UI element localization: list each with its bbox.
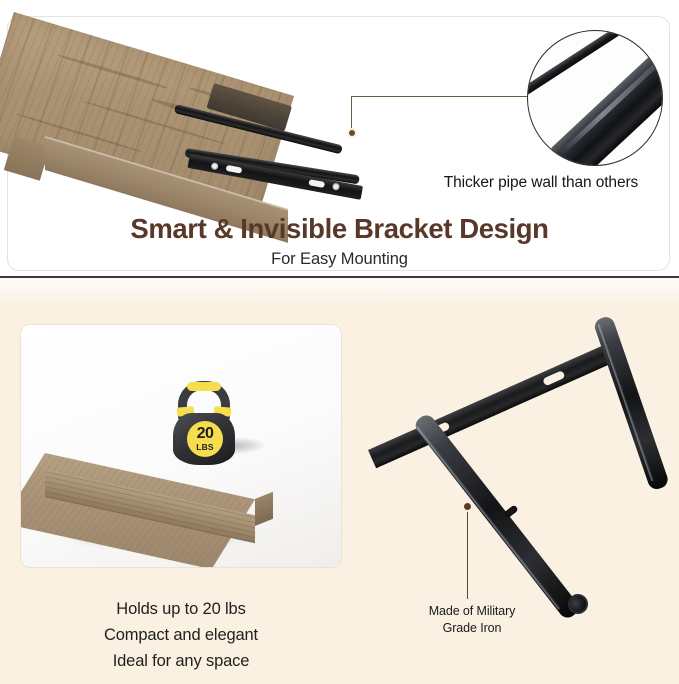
product-feature-graphic: Thicker pipe wall than others Smart & In… [0,0,679,684]
bullet-item: Ideal for any space [0,648,362,674]
subheadline: For Easy Mounting [0,250,679,269]
plate-screw-hole-2 [332,183,340,191]
tube-drain-hole [503,504,518,518]
kettlebell-body: 20 LBS [173,413,235,465]
top-section: Thicker pipe wall than others Smart & In… [0,0,679,277]
plate-screw-hole-1 [211,162,219,170]
kettlebell: 20 LBS [165,381,243,471]
military-caption-line-2: Grade Iron [382,620,562,637]
feature-bullet-list: Holds up to 20 lbs Compact and elegant I… [0,596,362,674]
kettlebell-photo-panel: 20 LBS [20,324,342,568]
callout-leader-vertical [351,96,352,130]
bracket-tube-main-highlight [415,425,561,610]
thicker-pipe-caption: Thicker pipe wall than others [410,174,672,192]
bullet-item: Compact and elegant [0,622,362,648]
kettlebell-handle-grip [187,382,221,391]
kettlebell-weight-unit: LBS [196,443,214,452]
bullet-item: Holds up to 20 lbs [0,596,362,622]
callout-anchor-dot [347,128,357,138]
headline: Smart & Invisible Bracket Design [0,213,679,245]
kettlebell-weight-value: 20 [197,426,214,442]
plate-slot-1 [226,165,243,174]
military-caption-line-1: Made of Military [382,603,562,620]
bracket-callout-line [467,511,468,599]
bracket-tube-right-highlight [597,323,655,481]
bracket-callout-dot [462,501,473,512]
bracket-tube-main [412,412,582,621]
callout-leader-horizontal [351,96,534,97]
bracket-flat-plate [368,339,625,468]
plate-slot-2 [308,179,325,188]
magnifier-circle [527,30,663,166]
kettlebell-weight-badge: 20 LBS [187,421,223,457]
military-grade-caption: Made of Military Grade Iron [382,603,562,637]
plate-slot-right [542,370,565,386]
bracket-photo: Made of Military Grade Iron [352,278,679,684]
floating-shelf-illustration [8,8,368,208]
